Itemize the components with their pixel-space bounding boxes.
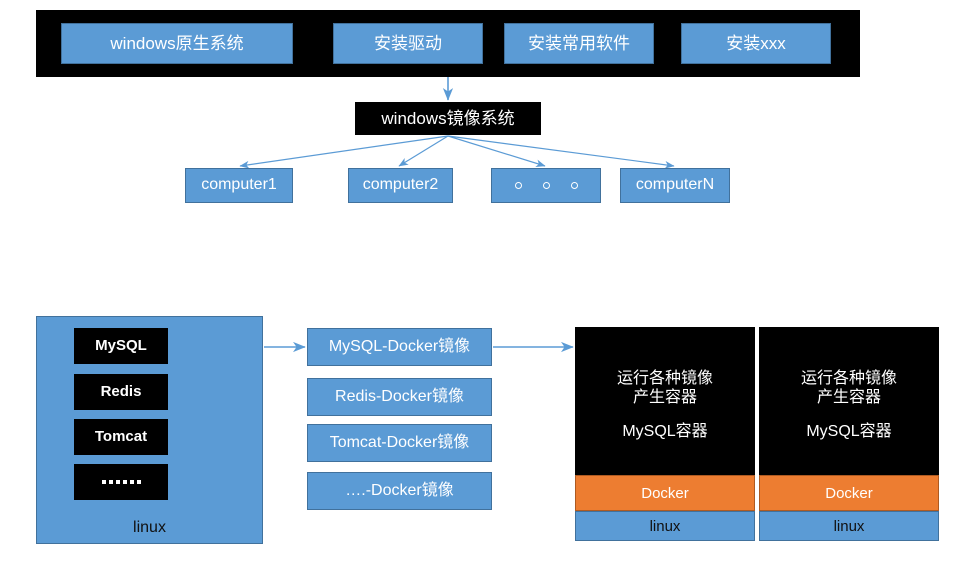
service-box-redis[interactable]: Redis bbox=[74, 374, 168, 410]
ellipsis-dots-icon bbox=[102, 480, 141, 484]
computer-node-1[interactable]: computer1 bbox=[185, 168, 293, 203]
container-stack-1-runtime[interactable]: 运行各种镜像 产生容器 MySQL容器 bbox=[575, 327, 755, 475]
container-stack-2-runtime[interactable]: 运行各种镜像 产生容器 MySQL容器 bbox=[759, 327, 939, 475]
arrow-mirror-to-computer2 bbox=[399, 136, 448, 166]
docker-image-mysql[interactable]: MySQL-Docker镜像 bbox=[307, 328, 492, 366]
container-stack-2-linux-layer[interactable]: linux bbox=[759, 511, 939, 541]
container-stack-2-container-label: MySQL容器 bbox=[806, 423, 891, 441]
diagram-canvas: windows原生系统 安装驱动 安装常用软件 安装xxx windows镜像系… bbox=[0, 0, 959, 567]
container-stack-1-description-line2: 产生容器 bbox=[617, 389, 713, 407]
container-stack-1-container-label: MySQL容器 bbox=[622, 423, 707, 441]
container-stack-1-description: 运行各种镜像 产生容器 bbox=[617, 370, 713, 407]
linux-host-panel-label: linux bbox=[36, 515, 263, 541]
service-box-mysql[interactable]: MySQL bbox=[74, 328, 168, 364]
container-stack-1-description-line1: 运行各种镜像 bbox=[617, 370, 713, 388]
windows-image-system-box[interactable]: windows镜像系统 bbox=[355, 102, 541, 135]
pipeline-step-install-xxx[interactable]: 安装xxx bbox=[681, 23, 831, 64]
container-stack-2-docker-layer[interactable]: Docker bbox=[759, 475, 939, 511]
service-box-tomcat[interactable]: Tomcat bbox=[74, 419, 168, 455]
computer-node-ellipsis[interactable] bbox=[491, 168, 601, 203]
ellipsis-dots-icon bbox=[515, 182, 578, 189]
arrow-mirror-to-computerN bbox=[448, 136, 674, 166]
docker-image-redis[interactable]: Redis-Docker镜像 bbox=[307, 378, 492, 416]
pipeline-step-install-common-software[interactable]: 安装常用软件 bbox=[504, 23, 654, 64]
arrow-mirror-to-computer-dots bbox=[448, 136, 545, 166]
computer-node-2[interactable]: computer2 bbox=[348, 168, 453, 203]
arrow-mirror-to-computer1 bbox=[240, 136, 448, 166]
container-stack-2-description: 运行各种镜像 产生容器 bbox=[801, 370, 897, 407]
pipeline-step-install-drivers[interactable]: 安装驱动 bbox=[333, 23, 483, 64]
container-stack-2-description-line2: 产生容器 bbox=[801, 389, 897, 407]
container-stack-1-linux-layer[interactable]: linux bbox=[575, 511, 755, 541]
service-box-ellipsis[interactable] bbox=[74, 464, 168, 500]
pipeline-step-windows-native-system[interactable]: windows原生系统 bbox=[61, 23, 293, 64]
computer-node-n[interactable]: computerN bbox=[620, 168, 730, 203]
docker-image-ellipsis[interactable]: ….-Docker镜像 bbox=[307, 472, 492, 510]
container-stack-2-description-line1: 运行各种镜像 bbox=[801, 370, 897, 388]
container-stack-1-docker-layer[interactable]: Docker bbox=[575, 475, 755, 511]
docker-image-tomcat[interactable]: Tomcat-Docker镜像 bbox=[307, 424, 492, 462]
